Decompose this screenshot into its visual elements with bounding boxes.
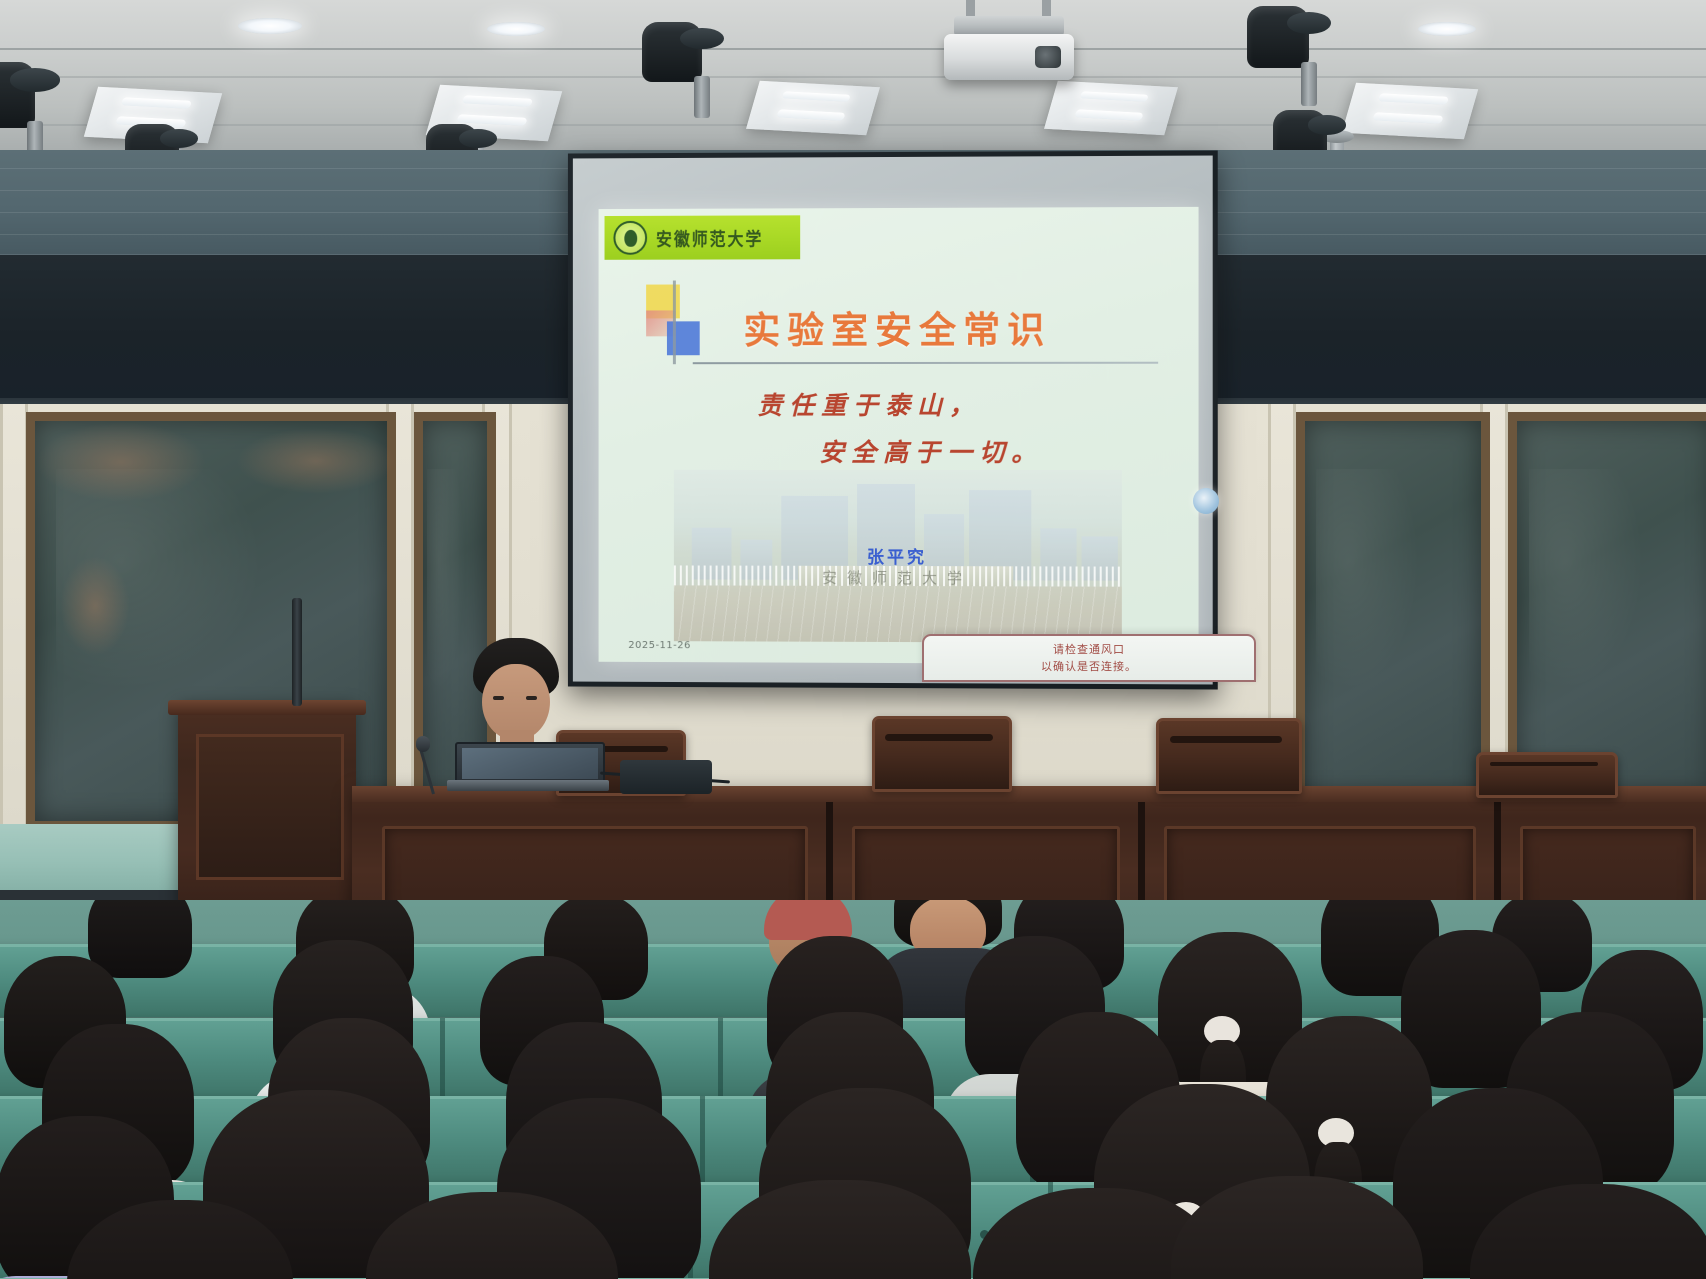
slide-date: 2025-11-26 xyxy=(628,640,691,651)
presentation-slide: 安徽师范大学 实验室安全常识 责任重于泰山， 安全高于一切。 xyxy=(599,207,1199,664)
light-tube xyxy=(776,109,845,120)
university-logo-bar: 安徽师范大学 xyxy=(605,215,801,259)
ceiling-projector xyxy=(944,16,1074,86)
audience-member xyxy=(700,1180,980,1279)
screen-surface: 安徽师范大学 实验室安全常识 责任重于泰山， 安全高于一切。 xyxy=(573,156,1213,685)
spotlight-lens xyxy=(1308,115,1347,134)
slide-presenter-name: 张平究 xyxy=(599,542,1199,568)
light-tube xyxy=(1378,93,1449,105)
audience-member xyxy=(358,1192,626,1279)
projector-mount xyxy=(954,16,1063,36)
stage-spotlight xyxy=(1278,6,1340,106)
ceiling-panel-light xyxy=(746,81,880,135)
university-logo-text: 安徽师范大学 xyxy=(656,224,763,251)
audience-member xyxy=(1462,1184,1706,1279)
laptop-screen xyxy=(462,748,598,779)
spotlight-lens xyxy=(680,28,723,49)
light-tube xyxy=(462,95,533,107)
popup-line-1: 请检查通风口 xyxy=(924,641,1254,657)
laptop-base xyxy=(447,780,609,791)
projector-lens-icon xyxy=(1035,46,1061,68)
slide-calligraphy-line-2: 安全高于一切。 xyxy=(819,433,1043,469)
light-tube xyxy=(121,97,193,109)
university-seal-icon xyxy=(613,221,647,255)
wall-stain xyxy=(36,422,206,502)
spotlight-lens xyxy=(1287,12,1332,34)
stage-chair xyxy=(872,716,1006,786)
ceiling-recessed-light xyxy=(487,22,545,36)
lecture-hall-photo: 安徽师范大学 实验室安全常识 责任重于泰山， 安全高于一切。 xyxy=(0,0,1706,1279)
equipment-box xyxy=(620,760,712,794)
light-tube xyxy=(1074,109,1143,120)
ceiling-recessed-light xyxy=(238,18,302,34)
audience-member xyxy=(60,1200,300,1279)
table-microphone xyxy=(414,742,454,800)
ceiling-recessed-light xyxy=(1418,22,1476,36)
lectern-top xyxy=(168,700,366,715)
stage-spotlight xyxy=(672,22,732,118)
chalkboard xyxy=(1296,412,1490,830)
light-tube xyxy=(782,91,851,102)
light-tube xyxy=(1373,112,1444,124)
wall-stain xyxy=(60,556,130,656)
spotlight-lens xyxy=(459,129,496,147)
slide-calligraphy-line-1: 责任重于泰山， xyxy=(757,386,981,422)
stage-chair xyxy=(1476,752,1612,792)
wall-stain xyxy=(236,428,396,494)
spotlight-neck xyxy=(694,76,710,118)
audience-member xyxy=(1162,1176,1432,1279)
light-tube xyxy=(1080,91,1149,102)
spotlight-lens xyxy=(160,129,199,148)
spotlight-lens xyxy=(10,68,60,91)
lectern-microphone xyxy=(292,598,302,706)
ceiling-seam xyxy=(0,48,1706,50)
ceiling-panel-light xyxy=(1044,81,1178,135)
screen-indicator-dot xyxy=(1193,488,1219,514)
ceiling-seam xyxy=(0,76,1706,78)
stage-chair xyxy=(1156,718,1296,788)
audience-area xyxy=(0,900,1706,1279)
ventilation-notice-popup[interactable]: 请检查通风口 以确认是否连接。 xyxy=(922,634,1256,682)
presenter-laptop xyxy=(455,742,601,796)
presenter-face xyxy=(482,664,550,740)
slide-title-rule xyxy=(693,362,1158,364)
slide-title: 实验室安全常识 xyxy=(599,299,1199,354)
projection-screen: 安徽师范大学 实验室安全常识 责任重于泰山， 安全高于一切。 xyxy=(568,150,1218,689)
lectern-front-panel xyxy=(196,734,344,880)
spotlight-neck xyxy=(1301,62,1317,106)
ceiling-panel-light xyxy=(1342,83,1478,139)
wall-column xyxy=(0,404,28,824)
popup-line-2: 以确认是否连接。 xyxy=(924,658,1254,674)
